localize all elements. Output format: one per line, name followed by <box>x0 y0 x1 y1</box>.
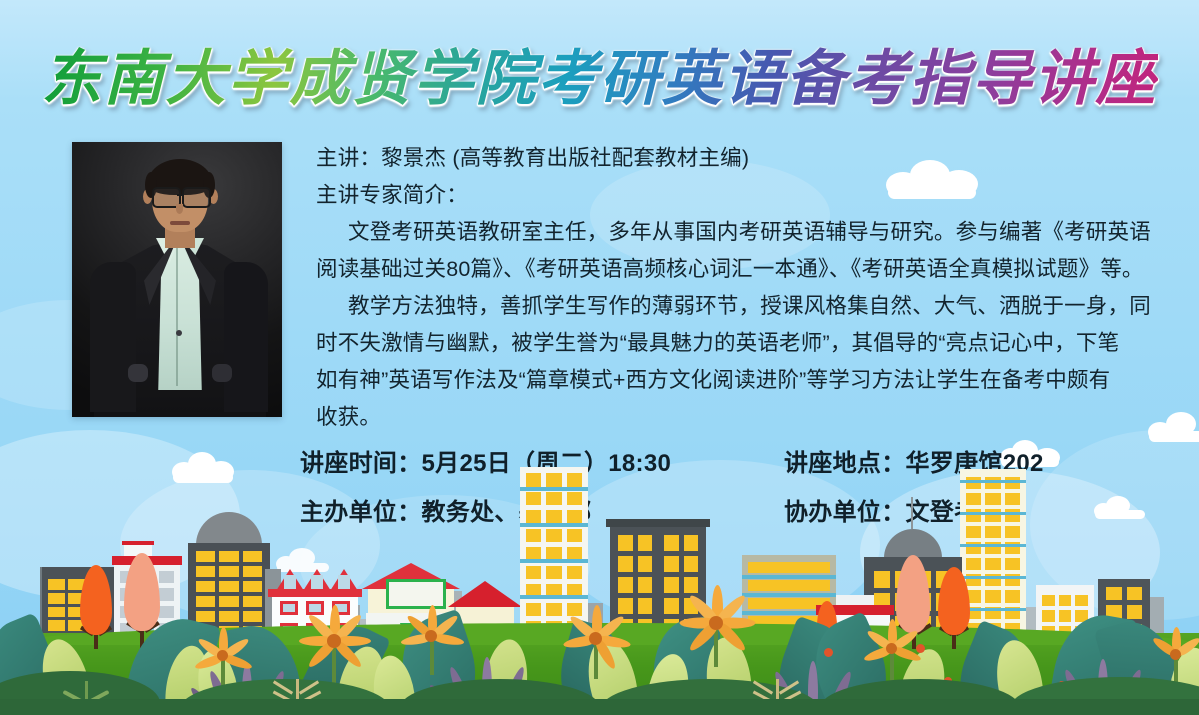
ground-base <box>0 699 1199 715</box>
portrait-glasses-right <box>182 187 211 208</box>
portrait-jacket-button <box>176 330 182 336</box>
cloud-icon <box>172 452 234 484</box>
portrait-nose <box>176 204 183 214</box>
berry-dot <box>824 648 833 657</box>
flower-orange-daisy <box>860 617 924 681</box>
event-detail-row: 讲座时间：5月25日（周二）18:30 讲座地点：华罗庚馆202 <box>300 443 1199 478</box>
flower-orange-daisy <box>560 603 632 675</box>
poster-title-area: 东南大学成贤学院考研英语备考指导讲座 <box>0 40 1199 122</box>
bio-p1-l1: 文登考研英语教研室主任，多年从事国内考研英语辅导与研究。参与编著《考研英语 <box>316 214 1178 251</box>
flower-orange-daisy <box>1146 625 1199 685</box>
gable-window <box>284 575 296 589</box>
speaker-portrait <box>72 142 282 417</box>
portrait-mouth <box>170 221 190 225</box>
portrait-arm-left <box>90 262 136 412</box>
gable-window <box>311 575 323 589</box>
poster-title: 东南大学成贤学院考研英语备考指导讲座 <box>42 40 1158 118</box>
flower-orange-daisy <box>296 603 372 679</box>
flower-orange-daisy <box>398 603 466 671</box>
bio-p2-l4: 收获。 <box>316 399 1178 436</box>
tower-stripe <box>960 512 1026 515</box>
poster-canvas: 东南大学成贤学院考研英语备考指导讲座 主讲：黎景杰 (高等教育出版社配套教材主编… <box>0 0 1199 715</box>
pavilion-top <box>836 595 874 605</box>
speaker-name-line: 主讲：黎景杰 (高等教育出版社配套教材主编) <box>316 140 1178 177</box>
bio-p2-l2: 时不失激情与幽默，被学生誉为“最具魅力的英语老师”，其倡导的“亮点记心中，下笔 <box>316 325 1178 362</box>
stripe-blue <box>742 593 836 597</box>
office-roof-cap <box>606 519 710 527</box>
portrait-arm-right <box>224 262 268 412</box>
portrait-hand-left <box>128 364 148 382</box>
tower-stripe <box>960 544 1026 547</box>
bio-p1-l2: 阅读基础过关80篇》、《考研英语高频核心词汇一本通》、《考研英语全真模拟试题》等… <box>316 251 1178 288</box>
bio-heading: 主讲专家简介： <box>316 177 1178 214</box>
berry-dot <box>916 644 925 653</box>
stripe-yellow <box>748 580 830 591</box>
tower-stripe <box>520 487 588 491</box>
tower-stripe <box>520 595 588 599</box>
bio-p2-l3: 如有神”英语写作法及“篇章模式+西方文化阅读进阶”等学习方法让学生在备考中颇有 <box>316 362 1178 399</box>
roof-chimney-cap <box>122 541 154 545</box>
stripe-blue <box>742 575 836 579</box>
speaker-info-block: 主讲：黎景杰 (高等教育出版社配套教材主编) 主讲专家简介： 文登考研英语教研室… <box>316 140 1178 436</box>
window-grid <box>966 477 1020 635</box>
portrait-glasses-bridge <box>177 194 182 196</box>
stripe-yellow <box>748 562 830 573</box>
city-scenery <box>0 515 1199 715</box>
building-dome-roof <box>196 512 262 545</box>
tower-stripe <box>520 523 588 527</box>
flower-orange-daisy <box>192 625 254 687</box>
portrait-hand-right <box>212 364 232 382</box>
tower-stripe <box>960 480 1026 483</box>
gable-window <box>338 575 350 589</box>
bio-p2-l1: 教学方法独特，善抓学生写作的薄弱环节，授课风格集自然、大气、洒脱于一身，同 <box>316 288 1178 325</box>
portrait-shirt-placket <box>176 246 178 386</box>
flower-orange-daisy <box>676 583 756 663</box>
tower-stripe <box>960 576 1026 579</box>
tower-stripe <box>520 559 588 563</box>
dome-antenna <box>911 497 913 529</box>
